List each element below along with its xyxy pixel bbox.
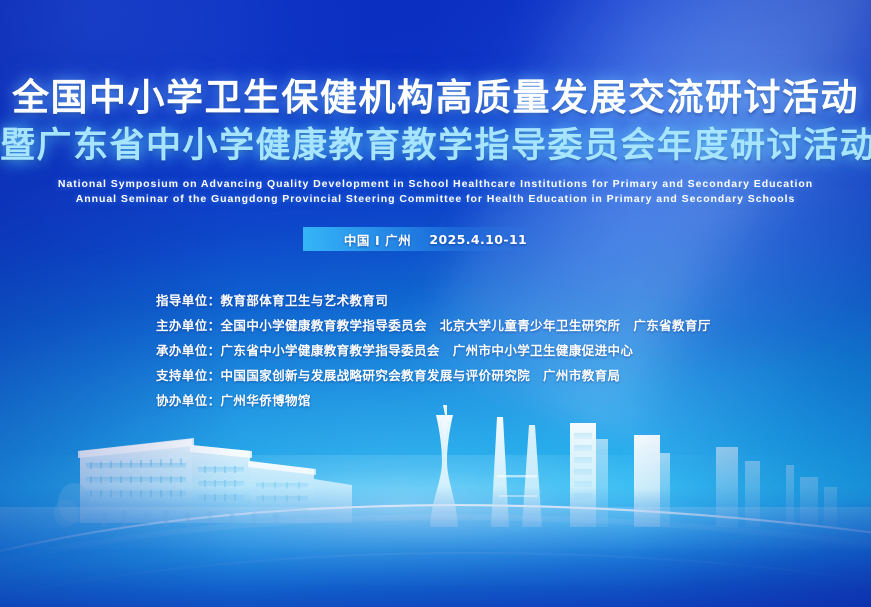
organizer-list: 指导单位： 教育部体育卫生与艺术教育司 主办单位： 全国中小学健康教育教学指导委… [156,290,711,415]
page-title-primary: 全国中小学卫生保健机构高质量发展交流研讨活动 [0,76,871,120]
organizer-label: 指导单位： [156,290,221,309]
organizer-label: 承办单位： [156,340,221,359]
conference-poster: 全国中小学卫生保健机构高质量发展交流研讨活动 暨广东省中小学健康教育教学指导委员… [0,0,871,607]
organizer-value: 教育部体育卫生与艺术教育司 [221,290,389,309]
event-date: 2025.4.10-11 [429,232,527,247]
subtitle-english-line-2: Annual Seminar of the Guangdong Provinci… [0,192,871,207]
organizer-value: 中国国家创新与发展战略研究会教育发展与评价研究院 广州市教育局 [221,365,621,384]
event-info-badge: 中国 I 广州 2025.4.10-11 [303,227,569,251]
organizer-label: 支持单位： [156,365,221,384]
organizer-label: 主办单位： [156,315,221,334]
list-item: 协办单位： 广州华侨博物馆 [156,390,711,415]
poster-content: 全国中小学卫生保健机构高质量发展交流研讨活动 暨广东省中小学健康教育教学指导委员… [0,0,871,607]
subtitle-english-line-1: National Symposium on Advancing Quality … [0,177,871,192]
list-item: 支持单位： 中国国家创新与发展战略研究会教育发展与评价研究院 广州市教育局 [156,365,711,390]
list-item: 指导单位： 教育部体育卫生与艺术教育司 [156,290,711,315]
organizer-label: 协办单位： [156,390,221,409]
organizer-value: 全国中小学健康教育教学指导委员会 北京大学儿童青少年卫生研究所 广东省教育厅 [221,315,711,334]
title-block: 全国中小学卫生保健机构高质量发展交流研讨活动 暨广东省中小学健康教育教学指导委员… [0,76,871,207]
organizer-value: 广州华侨博物馆 [221,390,311,409]
organizer-value: 广东省中小学健康教育教学指导委员会 广州市中小学卫生健康促进中心 [221,340,634,359]
list-item: 承办单位： 广东省中小学健康教育教学指导委员会 广州市中小学卫生健康促进中心 [156,340,711,365]
event-location: 中国 I 广州 [344,230,412,249]
list-item: 主办单位： 全国中小学健康教育教学指导委员会 北京大学儿童青少年卫生研究所 广东… [156,315,711,340]
page-title-secondary: 暨广东省中小学健康教育教学指导委员会年度研讨活动 [0,125,871,167]
